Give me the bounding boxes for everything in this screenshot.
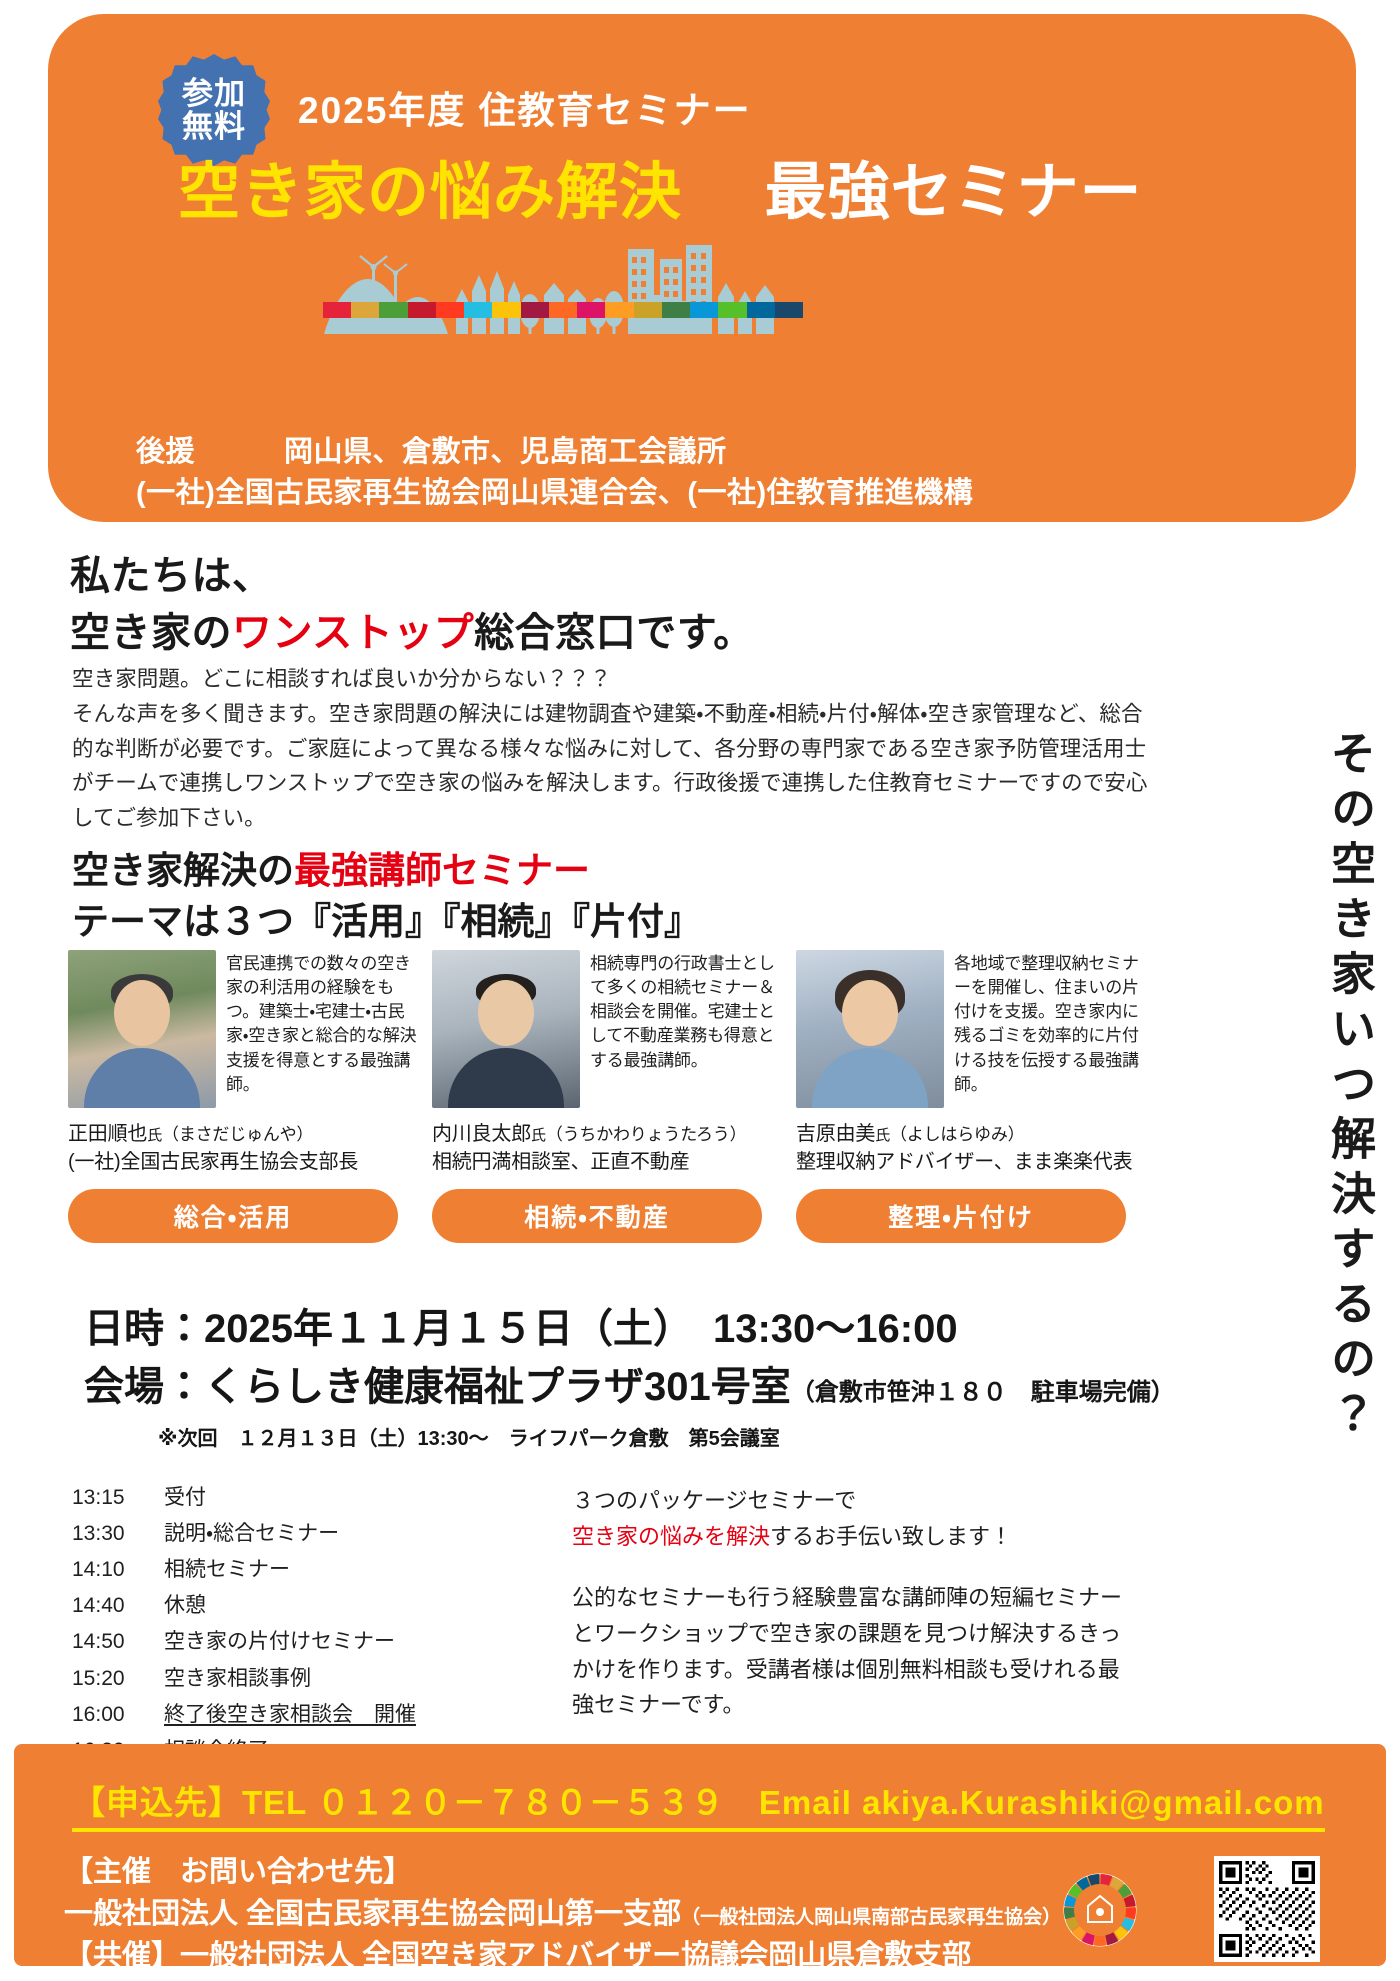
promo-p1-accent: 空き家の悩みを解決 <box>572 1524 770 1549</box>
speaker-top: 相続専門の行政書士として多くの相続セミナー＆相談会を開催。宅建士として不動産業務… <box>432 950 784 1110</box>
event-details: 日時：2025年１１月１５日（土） 13:30〜16:00 会場：くらしき健康福… <box>84 1300 1175 1451</box>
speaker-affiliation: 整理収納アドバイザー、まま楽楽代表 <box>796 1148 1148 1176</box>
lead-line2-pre: 空き家の <box>70 611 232 655</box>
speaker-card: 各地域で整理収納セミナーを開催し、住まいの片付けを支援。空き家内に残るゴミを効率… <box>796 950 1148 1243</box>
cohost-label: 【共催】 <box>64 1940 180 1972</box>
speaker-name-block: 正田順也氏（まさだじゅんや） (一社)全国古民家再生協会支部長 <box>68 1120 420 1177</box>
timetable-row: 14:50 空き家の片付けセミナー <box>72 1624 416 1660</box>
sdg-color-segment <box>662 302 690 318</box>
supporters-line2: (一社)全国古民家再生協会岡山県連合会、(一社)住教育推進機構 <box>136 473 973 514</box>
timetable-row: 14:10 相続セミナー <box>72 1552 416 1588</box>
speaker-bio: 各地域で整理収納セミナーを開催し、住まいの片付けを支援。空き家内に残るゴミを効率… <box>954 950 1148 1110</box>
sdg-color-segment <box>323 302 351 318</box>
organizer-note: （一般社団法人岡山県南部古民家再生協会） <box>681 1907 1061 1928</box>
sdg-color-segment <box>718 302 746 318</box>
timetable-event: 空き家相談事例 <box>164 1661 311 1697</box>
speaker-affiliation: 相続円満相談室、正直不動産 <box>432 1148 784 1176</box>
timetable-event: 休憩 <box>164 1588 206 1624</box>
timetable-time: 14:50 <box>72 1624 164 1660</box>
supporters-block: 後援岡山県、倉敷市、児島商工会議所 (一社)全国古民家再生協会岡山県連合会、(一… <box>136 432 973 514</box>
speaker-name-kana: （まさだじゅんや） <box>162 1125 313 1144</box>
timetable: 13:15 受付 13:30 説明・総合セミナー 14:10 相続セミナー 14… <box>72 1480 416 1769</box>
sdg-color-segment <box>351 302 379 318</box>
timetable-row: 16:00 終了後空き家相談会 開催 <box>72 1697 416 1733</box>
speaker-topic-tag[interactable]: 総合・活用 <box>68 1189 398 1243</box>
lead-line2: 空き家のワンストップ総合窓口です。 <box>70 605 754 662</box>
header-kicker: 2025年度 住教育セミナー <box>298 80 752 134</box>
speaker-photo-uchikawa <box>432 950 580 1108</box>
organizer-label: 【主催 お問い合わせ先】 <box>64 1852 1061 1894</box>
speaker-top: 官民連携での数々の空き家の利活用の経験をもつ。建築士・宅建士・古民家・空き家と総… <box>68 950 420 1110</box>
event-venue-line: 会場：くらしき健康福祉プラザ301号室（倉敷市笹沖１８０ 駐車場完備） <box>84 1358 1175 1416</box>
event-venue-detail: （倉敷市笹沖１８０ 駐車場完備） <box>791 1379 1175 1406</box>
speaker-top: 各地域で整理収納セミナーを開催し、住まいの片付けを支援。空き家内に残るゴミを効率… <box>796 950 1148 1110</box>
timetable-time: 13:30 <box>72 1516 164 1552</box>
speaker-name-kana: （うちかわりょうたろう） <box>546 1125 747 1144</box>
sdg-color-segment <box>747 302 775 318</box>
qr-code[interactable] <box>1214 1856 1320 1962</box>
sdg-color-segment <box>408 302 436 318</box>
speakers-heading: 空き家解決の最強講師セミナー テーマは３つ『活用』『相続』『片付』 <box>72 845 701 947</box>
sdg-color-segment <box>690 302 718 318</box>
sdg-color-segment <box>549 302 577 318</box>
body-shape <box>448 1048 564 1108</box>
speaker-affiliation: (一社)全国古民家再生協会支部長 <box>68 1148 420 1176</box>
supporters-label: 後援 <box>136 432 284 473</box>
body-shape <box>812 1048 928 1108</box>
vertical-catch-copy: その空き家いつ解決するの？ <box>1310 730 1372 1445</box>
promo-p1-pre: ３つのパッケージセミナーで <box>572 1488 856 1513</box>
event-date-value: 2025年１１月１５日（土） 13:30〜16:00 <box>204 1307 958 1351</box>
sdg-color-bar <box>323 302 803 318</box>
lead-line2-post: 総合窓口です。 <box>474 611 754 655</box>
event-date-line: 日時：2025年１１月１５日（土） 13:30〜16:00 <box>84 1300 1175 1358</box>
timetable-event: 空き家の片付けセミナー <box>164 1624 395 1660</box>
speakers-heading-pre: 空き家解決の <box>72 850 294 891</box>
header-panel: 参加 無料 2025年度 住教育セミナー 空き家の悩み解決 最強セミナー <box>48 14 1356 522</box>
speaker-name: 吉原由美 <box>796 1123 875 1145</box>
organizer-block: 【主催 お問い合わせ先】 一般社団法人 全国古民家再生協会岡山第一支部（一般社団… <box>64 1852 1061 1977</box>
timetable-row: 13:15 受付 <box>72 1480 416 1516</box>
organizer-name: 一般社団法人 全国古民家再生協会岡山第一支部 <box>64 1898 681 1930</box>
speakers-heading-line1: 空き家解決の最強講師セミナー <box>72 845 701 896</box>
title-part-main: 最強セミナー <box>764 158 1142 227</box>
cohost-name: 一般社団法人 全国空き家アドバイザー協議会岡山県倉敷支部 <box>180 1940 971 1972</box>
badge-line2: 無料 <box>182 110 246 143</box>
badge-line1: 参加 <box>182 77 246 110</box>
speaker-name-block: 吉原由美氏（よしはらゆみ） 整理収納アドバイザー、まま楽楽代表 <box>796 1120 1148 1177</box>
page-title: 空き家の悩み解決 最強セミナー <box>178 154 1358 232</box>
lead-headline: 私たちは、 空き家のワンストップ総合窓口です。 <box>70 548 754 662</box>
timetable-event: 終了後空き家相談会 開催 <box>164 1697 416 1733</box>
timetable-event: 受付 <box>164 1480 206 1516</box>
timetable-event: 説明・総合セミナー <box>164 1516 339 1552</box>
speaker-photo-yoshihara <box>796 950 944 1108</box>
event-venue-value: くらしき健康福祉プラザ301号室 <box>204 1365 791 1409</box>
sdg-color-segment <box>577 302 605 318</box>
sdg-wheel-icon <box>1062 1872 1138 1948</box>
speaker-bio: 相続専門の行政書士として多くの相続セミナー＆相談会を開催。宅建士として不動産業務… <box>590 950 784 1110</box>
free-admission-badge: 参加 無料 <box>158 54 270 166</box>
speakers-heading-accent: 最強講師セミナー <box>294 850 590 891</box>
footer-panel: 【申込先】TEL ０１２０－７８０－５３９ Email akiya.Kurash… <box>14 1744 1386 1966</box>
speaker-bio: 官民連携での数々の空き家の利活用の経験をもつ。建築士・宅建士・古民家・空き家と総… <box>226 950 420 1110</box>
sdg-color-segment <box>634 302 662 318</box>
speaker-name-kana: （よしはらゆみ） <box>890 1125 1024 1144</box>
speaker-name: 正田順也 <box>68 1123 147 1145</box>
sdg-color-segment <box>464 302 492 318</box>
promo-text: ３つのパッケージセミナーで 空き家の悩みを解決するお手伝い致します！ 公的なセミ… <box>572 1483 1132 1723</box>
application-contact[interactable]: 【申込先】TEL ０１２０－７８０－５３９ Email akiya.Kurash… <box>72 1776 1325 1832</box>
timetable-time: 16:00 <box>72 1697 164 1733</box>
lead-line1: 私たちは、 <box>70 548 754 605</box>
speaker-card: 相続専門の行政書士として多くの相続セミナー＆相談会を開催。宅建士として不動産業務… <box>432 950 784 1243</box>
speaker-photo-masada <box>68 950 216 1108</box>
sdg-color-segment <box>379 302 407 318</box>
qr-code-image <box>1219 1861 1315 1957</box>
speaker-topic-tag[interactable]: 整理・片付け <box>796 1189 1126 1243</box>
speaker-name-suffix: 氏 <box>531 1127 546 1144</box>
organizer-name-line: 一般社団法人 全国古民家再生協会岡山第一支部（一般社団法人岡山県南部古民家再生協… <box>64 1894 1061 1936</box>
speaker-card: 官民連携での数々の空き家の利活用の経験をもつ。建築士・宅建士・古民家・空き家と総… <box>68 950 420 1243</box>
event-date-label: 日時： <box>84 1307 204 1351</box>
promo-paragraph-2: 公的なセミナーも行う経験豊富な講師陣の短編セミナーとワークショップで空き家の課題… <box>572 1580 1132 1723</box>
timetable-time: 14:40 <box>72 1588 164 1624</box>
head-shape <box>842 980 898 1046</box>
sdg-city-skyline-illustration <box>316 239 806 334</box>
cohost-line: 【共催】一般社団法人 全国空き家アドバイザー協議会岡山県倉敷支部 <box>64 1936 1061 1978</box>
timetable-row: 13:30 説明・総合セミナー <box>72 1516 416 1552</box>
promo-paragraph-1: ３つのパッケージセミナーで 空き家の悩みを解決するお手伝い致します！ <box>572 1483 1132 1554</box>
head-shape <box>114 980 170 1046</box>
next-session-note: ※次回 １２月１３日（土）13:30〜 ライフパーク倉敷 第5会議室 <box>158 1422 1175 1451</box>
head-shape <box>478 980 534 1046</box>
speaker-name-block: 内川良太郎氏（うちかわりょうたろう） 相続円満相談室、正直不動産 <box>432 1120 784 1177</box>
promo-p1-post: するお手伝い致します！ <box>770 1524 1012 1549</box>
timetable-event: 相続セミナー <box>164 1552 290 1588</box>
timetable-row: 14:40 休憩 <box>72 1588 416 1624</box>
timetable-time: 13:15 <box>72 1480 164 1516</box>
flyer-page: 参加 無料 2025年度 住教育セミナー 空き家の悩み解決 最強セミナー <box>0 0 1400 1981</box>
timetable-time: 15:20 <box>72 1661 164 1697</box>
speakers-heading-line2: テーマは３つ『活用』『相続』『片付』 <box>72 896 701 947</box>
speaker-name-suffix: 氏 <box>147 1127 162 1144</box>
speaker-name-suffix: 氏 <box>875 1127 890 1144</box>
title-part-accent: 空き家の悩み解決 <box>178 158 682 227</box>
supporters-line1: 岡山県、倉敷市、児島商工会議所 <box>284 436 727 468</box>
body-shape <box>84 1048 200 1108</box>
speaker-name: 内川良太郎 <box>432 1123 531 1145</box>
sdg-color-segment <box>521 302 549 318</box>
timetable-row: 15:20 空き家相談事例 <box>72 1661 416 1697</box>
speaker-topic-tag[interactable]: 相続・不動産 <box>432 1189 762 1243</box>
event-venue-label: 会場： <box>84 1365 204 1409</box>
intro-paragraph: 空き家問題。どこに相談すれば良いか分からない？？？ そんな声を多く聞きます。空き… <box>72 662 1152 836</box>
sdg-color-segment <box>605 302 633 318</box>
qr-caption: QR申込 24時間 1分で申込可能 <box>1070 1976 1328 1981</box>
sdg-color-segment <box>775 302 803 318</box>
timetable-time: 14:10 <box>72 1552 164 1588</box>
lead-line2-accent: ワンストップ <box>232 611 474 655</box>
sdg-color-segment <box>492 302 520 318</box>
sdg-color-segment <box>436 302 464 318</box>
